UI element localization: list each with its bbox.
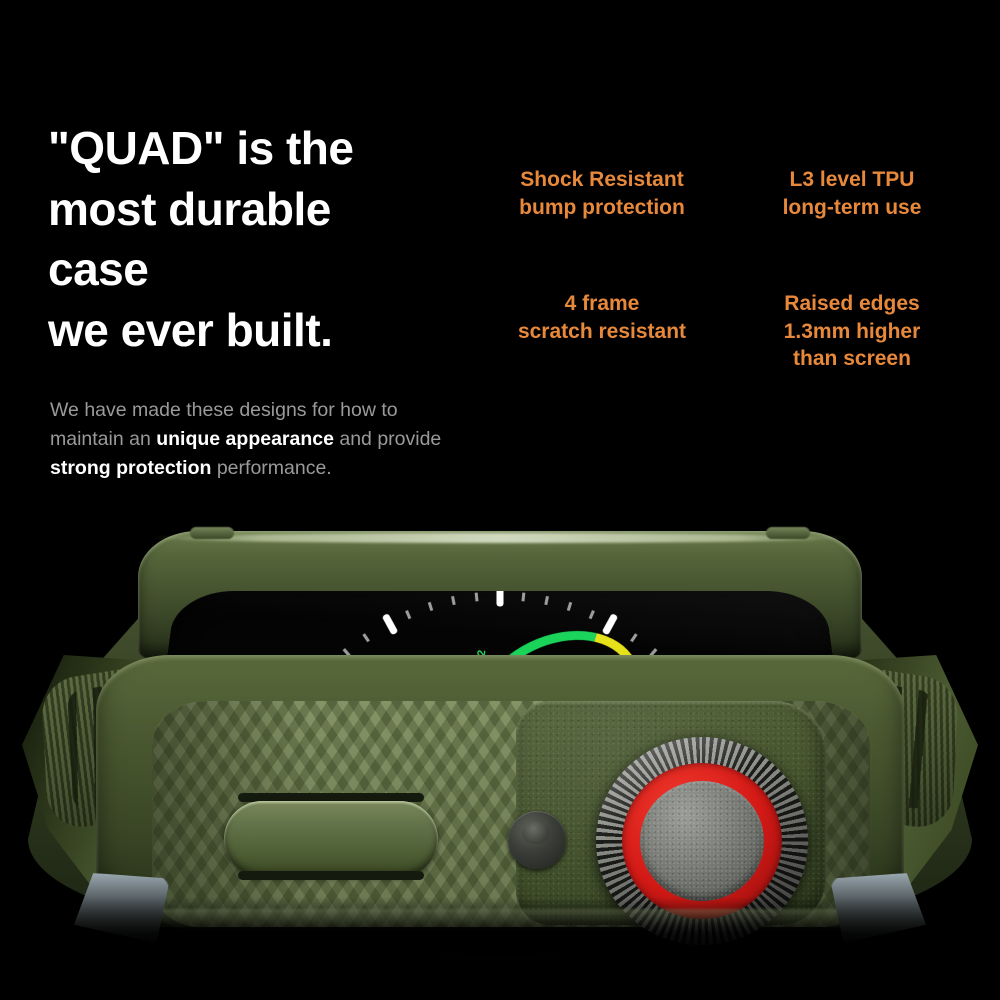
digital-crown-center[interactable]: [640, 781, 764, 901]
watch-tick: [544, 596, 549, 605]
watch-tick: [496, 591, 503, 606]
watch-tick: [362, 633, 370, 642]
watch-tick: [567, 602, 572, 611]
subcopy-part-2: and provide: [334, 428, 441, 450]
feature-callout-shock-resistant: Shock Resistant bump protection: [487, 166, 717, 221]
side-button[interactable]: [224, 801, 438, 877]
headline-line-2: most durable: [48, 179, 478, 240]
feature-callout-4-frame: 4 frame scratch resistant: [487, 290, 717, 345]
watch-tick: [602, 613, 619, 635]
feature-3-line-2: 1.3mm higher: [737, 318, 967, 346]
page-title: "QUAD" is the most durable case we ever …: [48, 118, 478, 361]
bezel-highlight: [150, 533, 850, 543]
feature-2-line-2: scratch resistant: [487, 318, 717, 346]
bezel-notch-right: [766, 527, 810, 539]
feature-1-line-1: L3 level TPU: [737, 166, 967, 194]
feature-3-line-1: Raised edges: [737, 290, 967, 318]
subcopy-bold-1: unique appearance: [156, 428, 334, 450]
headline-line-3: case: [48, 239, 478, 300]
headline-line-1: "QUAD" is the: [48, 118, 478, 179]
subcopy-part-3: performance.: [211, 457, 331, 479]
feature-0-line-2: bump protection: [487, 194, 717, 222]
watch-tick: [451, 596, 456, 605]
side-button-bottom-edge: [238, 871, 424, 880]
watch-tick: [475, 593, 479, 602]
product-photo: ♥ 52 88 68 10 TUE: [0, 505, 1000, 945]
bezel-notch-left: [190, 527, 234, 539]
feature-2-line-1: 4 frame: [487, 290, 717, 318]
watch-tick: [630, 633, 638, 642]
watch-tick: [589, 610, 595, 619]
feature-0-line-1: Shock Resistant: [487, 166, 717, 194]
watch-tick: [405, 610, 411, 619]
bottom-fade: [0, 897, 1000, 957]
watch-tick: [521, 593, 525, 602]
headline-line-4: we ever built.: [48, 300, 478, 361]
product-marketing-banner: "QUAD" is the most durable case we ever …: [0, 0, 1000, 1000]
feature-callout-l3-tpu: L3 level TPU long-term use: [737, 166, 967, 221]
round-side-button[interactable]: [508, 811, 566, 869]
feature-3-line-3: than screen: [737, 345, 967, 373]
watch-tick: [428, 602, 433, 611]
subcopy-paragraph: We have made these designs for how to ma…: [50, 396, 470, 484]
feature-callout-raised-edges: Raised edges 1.3mm higher than screen: [737, 290, 967, 373]
feature-1-line-2: long-term use: [737, 194, 967, 222]
subcopy-bold-2: strong protection: [50, 457, 211, 479]
watch-tick: [382, 613, 399, 635]
